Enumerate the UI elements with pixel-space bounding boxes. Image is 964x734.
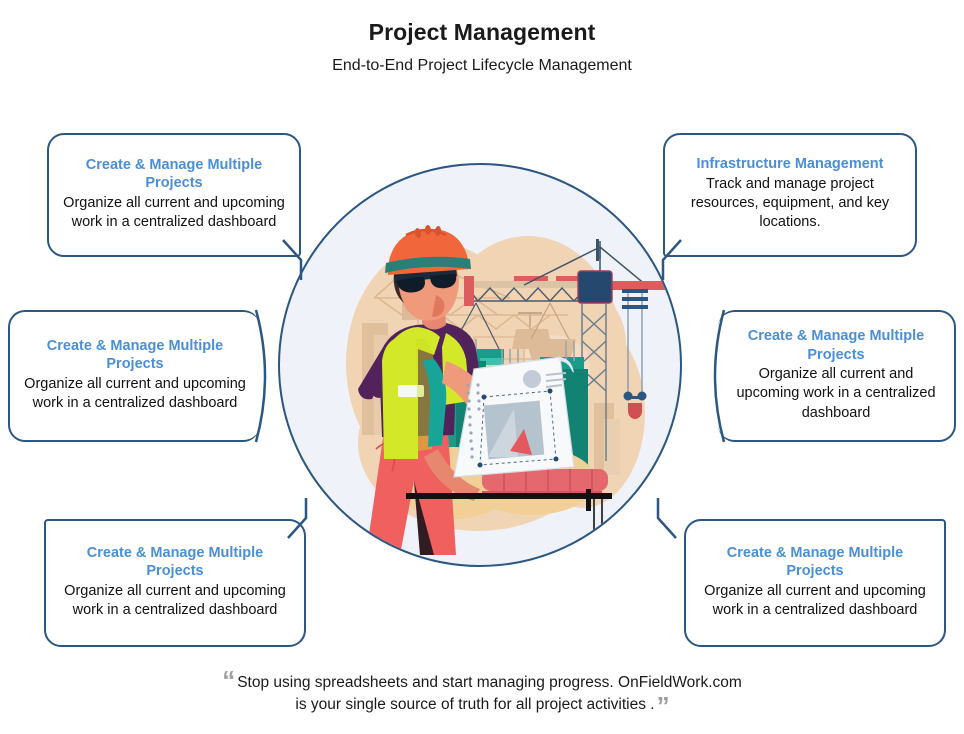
- page-title: Project Management: [0, 18, 964, 47]
- quote-text-2: is your single source of truth for all p…: [295, 696, 654, 713]
- illustration-construction-worker: [278, 163, 682, 567]
- quote-line-1: “Stop using spreadsheets and start manag…: [0, 672, 964, 694]
- callout-body: Track and manage project resources, equi…: [677, 175, 903, 233]
- callout-body: Organize all current and upcoming work i…: [698, 582, 932, 621]
- callout-title: Create & Manage Multiple Projects: [61, 156, 287, 193]
- callout-body: Organize all current and upcoming work i…: [22, 375, 248, 414]
- callout-top-right[interactable]: Infrastructure Management Track and mana…: [663, 133, 917, 257]
- callout-body: Organize all current and upcoming work i…: [61, 194, 287, 233]
- callout-body: Organize all current and upcoming work i…: [730, 365, 942, 423]
- callout-middle-right[interactable]: Create & Manage Multiple Projects Organi…: [718, 310, 956, 442]
- callout-middle-left[interactable]: Create & Manage Multiple Projects Organi…: [8, 310, 260, 442]
- callout-title: Create & Manage Multiple Projects: [22, 337, 248, 374]
- callout-title: Create & Manage Multiple Projects: [698, 544, 932, 581]
- callout-title: Create & Manage Multiple Projects: [730, 327, 942, 364]
- footer-quote: “Stop using spreadsheets and start manag…: [0, 672, 964, 717]
- slide-canvas: Project Management End-to-End Project Li…: [0, 0, 964, 734]
- callout-bottom-right[interactable]: Create & Manage Multiple Projects Organi…: [684, 519, 946, 647]
- quote-text-1: Stop using spreadsheets and start managi…: [237, 674, 742, 691]
- page-subtitle: End-to-End Project Lifecycle Management: [0, 56, 964, 76]
- callout-bottom-left[interactable]: Create & Manage Multiple Projects Organi…: [44, 519, 306, 647]
- callout-title: Infrastructure Management: [677, 155, 903, 174]
- callout-body: Organize all current and upcoming work i…: [58, 582, 292, 621]
- header: Project Management End-to-End Project Li…: [0, 18, 964, 76]
- callout-top-left[interactable]: Create & Manage Multiple Projects Organi…: [47, 133, 301, 257]
- quote-open-icon: “: [222, 665, 234, 695]
- quote-line-2: is your single source of truth for all p…: [0, 694, 964, 716]
- callout-title: Create & Manage Multiple Projects: [58, 544, 292, 581]
- quote-close-icon: ”: [657, 691, 669, 721]
- center-circle: [278, 163, 682, 567]
